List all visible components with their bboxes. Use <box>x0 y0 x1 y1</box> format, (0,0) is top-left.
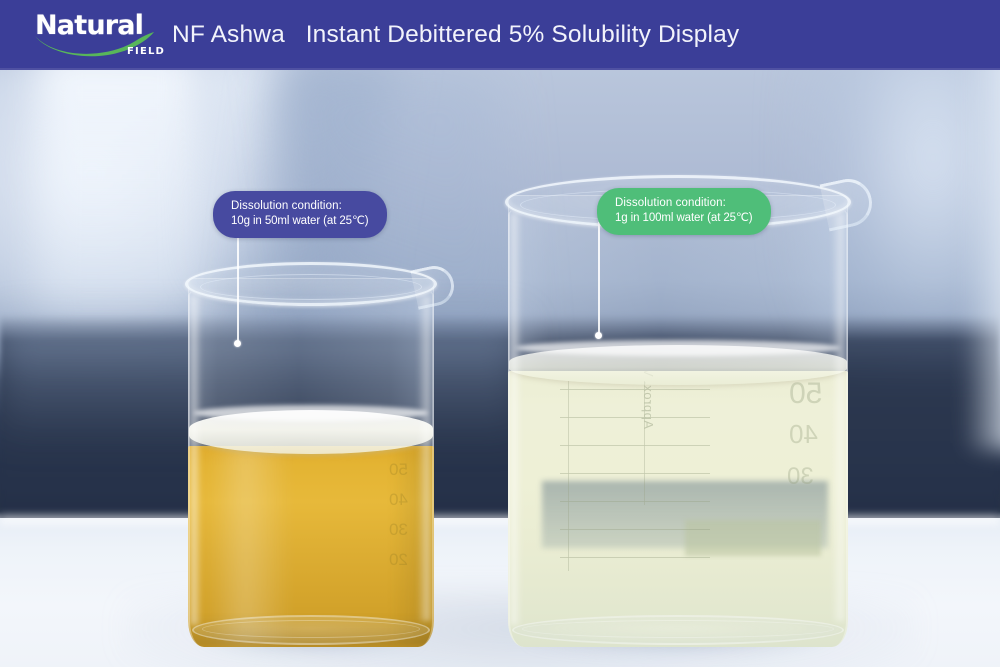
grad-line <box>560 445 710 446</box>
grad-vertical <box>568 381 569 571</box>
small-beaker: 50 40 30 20 <box>188 262 434 647</box>
grad-number: 30 <box>389 520 408 540</box>
grad-line <box>560 389 710 390</box>
callout-leader-left <box>237 226 239 344</box>
table-edge-highlight <box>0 513 1000 527</box>
small-beaker-body: 50 40 30 20 <box>188 278 434 647</box>
callout-leader-dot-left <box>234 340 241 347</box>
grad-number: 50 <box>789 377 822 411</box>
grad-number: 20 <box>389 550 408 570</box>
surface-top-highlight <box>516 340 841 356</box>
header-bar: Natural FIELD NF Ashwa Instant Debittere… <box>0 0 1000 70</box>
large-beaker-base-inner <box>522 620 834 638</box>
background-window-left <box>40 70 200 310</box>
product-photo: 50 40 30 20 <box>0 70 1000 667</box>
grad-number: 40 <box>389 490 408 510</box>
grad-line <box>560 501 710 502</box>
callout-right-line1: Dissolution condition: <box>615 196 753 211</box>
slide-canvas: 50 40 30 20 <box>0 0 1000 667</box>
foam-top-highlight <box>194 405 428 421</box>
grad-number: 50 <box>389 460 408 480</box>
grad-line <box>560 473 710 474</box>
logo-subtext: FIELD <box>127 46 165 57</box>
glass-highlight-right <box>832 213 844 621</box>
grad-line <box>560 417 710 418</box>
large-beaker: Approx. Vol. 50 40 30 <box>508 175 848 647</box>
grad-line <box>560 529 710 530</box>
callout-leader-right <box>598 222 600 337</box>
glass-highlight-left <box>511 213 521 625</box>
callout-left-line1: Dissolution condition: <box>231 199 369 214</box>
grad-number: 30 <box>787 463 814 491</box>
callout-left-line2: 10g in 50ml water (at 25℃) <box>231 214 369 229</box>
glass-highlight-left <box>191 296 201 625</box>
grad-line <box>560 557 710 558</box>
callout-right-line2: 1g in 100ml water (at 25℃) <box>615 211 753 226</box>
grad-number: 40 <box>789 419 818 450</box>
brand-logo[interactable]: Natural FIELD <box>33 10 163 60</box>
graduation-scale: Approx. Vol. 50 40 30 <box>508 371 848 647</box>
callout-left[interactable]: Dissolution condition: 10g in 50ml water… <box>213 191 387 238</box>
small-beaker-rim-inner <box>200 274 422 300</box>
small-beaker-rim <box>185 262 437 306</box>
callout-right[interactable]: Dissolution condition: 1g in 100ml water… <box>597 188 771 235</box>
large-beaker-liquid: Approx. Vol. 50 40 30 <box>508 371 848 647</box>
logo-wordmark: Natural <box>35 11 143 41</box>
small-beaker-foam <box>189 410 433 454</box>
large-beaker-body: Approx. Vol. 50 40 30 <box>508 195 848 647</box>
glass-highlight-right <box>418 296 430 621</box>
background-right-edge <box>963 70 1000 450</box>
page-title: NF Ashwa Instant Debittered 5% Solubilit… <box>172 0 739 70</box>
callout-leader-dot-right <box>595 332 602 339</box>
small-beaker-base-inner <box>202 620 420 638</box>
large-beaker-surface <box>509 345 847 385</box>
